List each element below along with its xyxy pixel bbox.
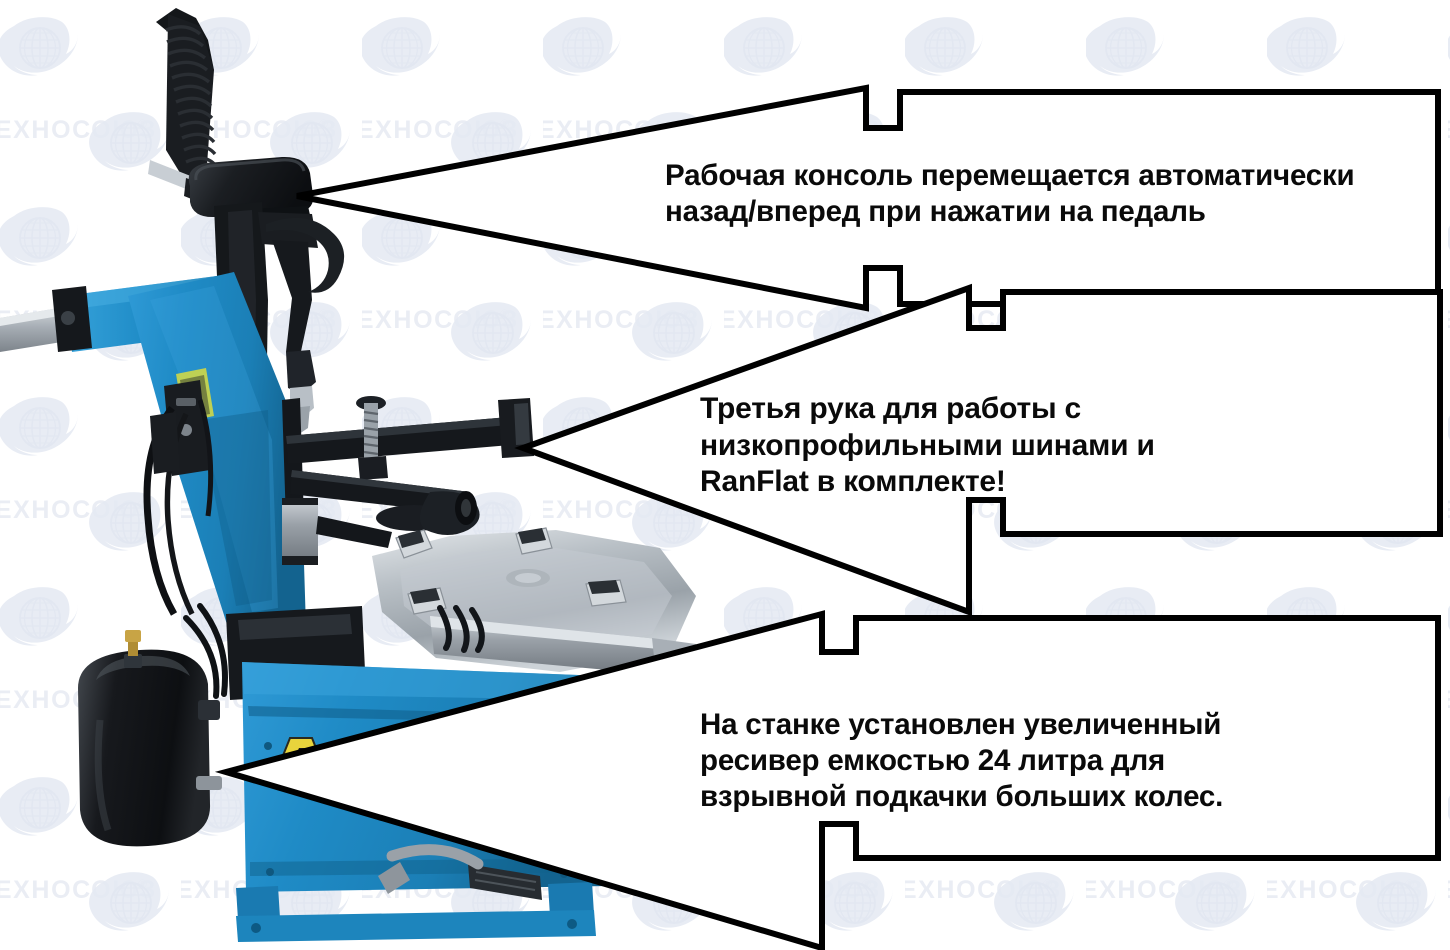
infographic-stage: ТЕХНОСОЮЗ ®	[0, 0, 1450, 950]
callout-1-text: Рабочая консоль перемещается автоматичес…	[665, 158, 1435, 230]
callout-layer: Рабочая консоль перемещается автоматичес…	[0, 0, 1450, 950]
callout-2-text: Третья рука для работы с низкопрофильным…	[700, 391, 1440, 501]
callout-3-text: На станке установлен увеличенный ресивер…	[700, 707, 1400, 815]
